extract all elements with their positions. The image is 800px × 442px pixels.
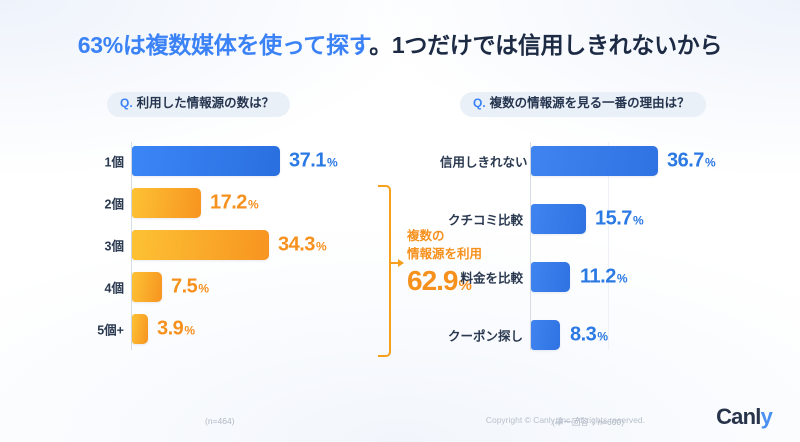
left-question-header: Q.利用した情報源の数は？ xyxy=(107,92,290,117)
left-value-label-1: 37.1% xyxy=(289,150,337,173)
left-bar-4 xyxy=(132,272,162,302)
right-question-pill: Q.複数の情報源を見る一番の理由は？ xyxy=(460,92,706,117)
right-bar-1 xyxy=(531,146,658,176)
left-bar-2 xyxy=(132,188,201,218)
left-value-label-4: 7.5% xyxy=(171,276,208,299)
right-bar-4 xyxy=(531,320,560,350)
chart-row: クーポン探し 8.3% xyxy=(440,314,740,356)
right-category-label: クーポン探し xyxy=(440,326,523,345)
question-mark-icon: Q. xyxy=(120,96,133,110)
right-bar-2 xyxy=(531,204,586,234)
bracket-arrow-icon xyxy=(389,262,403,264)
chart-row: 信用しきれない 36.7% xyxy=(440,140,740,182)
right-question-header: Q.複数の情報源を見る一番の理由は？ xyxy=(460,92,706,117)
right-category-label: 料金を比較 xyxy=(440,268,523,287)
chart-row: クチコミ比較 15.7% xyxy=(440,198,740,240)
right-value-label-2: 15.7% xyxy=(595,208,643,231)
left-question-pill: Q.利用した情報源の数は？ xyxy=(107,92,290,117)
chart-row: 1個 37.1% xyxy=(80,140,400,182)
grouping-bracket xyxy=(378,185,391,357)
chart-row: 2個 17.2% xyxy=(80,182,400,224)
right-bar-3 xyxy=(531,262,570,292)
right-value-label-4: 8.3% xyxy=(570,324,607,347)
logo-main: Canl xyxy=(716,404,760,429)
canly-logo: Canly xyxy=(716,404,772,430)
page-title-highlight: 63%は複数媒体を使って探す xyxy=(78,32,369,58)
left-value-label-5: 3.9% xyxy=(157,318,194,341)
right-value-label-3: 11.2% xyxy=(580,266,627,289)
left-bar-chart: 1個 37.1% 2個 17.2% 3個 34.3% 4個 7.5% 5個+ xyxy=(80,140,400,355)
left-question-text: 利用した情報源の数は？ xyxy=(137,96,275,110)
infographic-page: 63%は複数媒体を使って探す。1つだけでは信用しきれないから Q.利用した情報源… xyxy=(0,0,800,442)
right-value-label-1: 36.7% xyxy=(667,150,715,173)
page-title-rest: 。1つだけでは信用しきれないから xyxy=(369,32,722,58)
left-category-label: 2個 xyxy=(80,194,124,213)
left-category-label: 4個 xyxy=(80,278,124,297)
copyright-text: Copyright © Canly, Inc. All rights reser… xyxy=(486,415,645,425)
chart-row: 5個+ 3.9% xyxy=(80,308,400,350)
left-bar-3 xyxy=(132,230,269,260)
left-chart-note: (n=464) xyxy=(205,416,235,426)
chart-row: 3個 34.3% xyxy=(80,224,400,266)
question-mark-icon: Q. xyxy=(473,96,486,110)
left-category-label: 5個+ xyxy=(80,320,124,339)
left-category-label: 3個 xyxy=(80,236,124,255)
chart-row: 4個 7.5% xyxy=(80,266,400,308)
left-value-label-3: 34.3% xyxy=(278,234,326,257)
left-value-label-2: 17.2% xyxy=(210,192,258,215)
left-category-label: 1個 xyxy=(80,152,124,171)
right-question-text: 複数の情報源を見る一番の理由は？ xyxy=(490,96,690,110)
right-category-label: クチコミ比較 xyxy=(440,210,523,229)
right-category-label: 信用しきれない xyxy=(440,152,523,171)
left-bar-1 xyxy=(132,146,280,176)
logo-accent: y xyxy=(761,404,772,429)
page-title: 63%は複数媒体を使って探す。1つだけでは信用しきれないから xyxy=(0,26,800,60)
left-bar-5 xyxy=(132,314,148,344)
chart-row: 料金を比較 11.2% xyxy=(440,256,740,298)
right-bar-chart: 信用しきれない 36.7% クチコミ比較 15.7% 料金を比較 11.2% ク… xyxy=(440,140,740,355)
